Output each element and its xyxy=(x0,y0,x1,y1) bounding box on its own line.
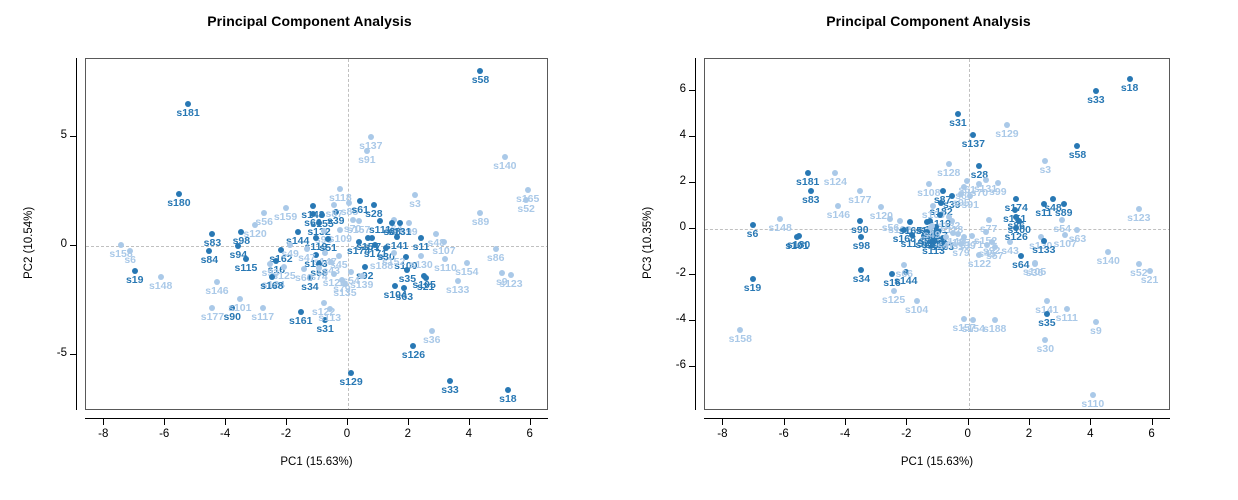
point-label: s101 xyxy=(785,241,808,252)
point-label: s47 xyxy=(937,241,955,252)
point-label: s66 xyxy=(896,269,914,280)
point-label: s30 xyxy=(1037,344,1055,355)
point-label: s34 xyxy=(301,282,319,293)
point-label: s168 xyxy=(893,234,916,245)
point-label: s47 xyxy=(298,253,316,264)
point-label: s83 xyxy=(802,195,820,206)
point-label: s174 xyxy=(1004,203,1027,214)
x-axis-tick xyxy=(530,419,531,425)
point-label: s86 xyxy=(1007,221,1025,232)
point-label: s140 xyxy=(1096,256,1119,267)
x-axis-tick xyxy=(722,419,723,425)
point-label: s36 xyxy=(423,335,441,346)
point-label: s88 xyxy=(383,227,401,238)
x-axis-tick-label: -4 xyxy=(205,428,245,440)
point-label: s35 xyxy=(1038,318,1056,329)
x-axis-tick xyxy=(1029,419,1030,425)
point-label: s33 xyxy=(441,385,459,396)
point-label: s33 xyxy=(1087,95,1105,106)
x-axis-tick-label: 0 xyxy=(948,428,988,440)
x-axis-tick xyxy=(164,419,165,425)
x-axis-tick xyxy=(103,419,104,425)
point-label: s180 xyxy=(167,198,190,209)
point-label: s146 xyxy=(205,286,228,297)
y-axis-tick xyxy=(70,136,76,137)
point-label: s158 xyxy=(729,334,752,345)
point-label: s56 xyxy=(255,217,273,228)
y-axis-tick-label: 4 xyxy=(644,129,686,141)
x-axis-title-right: PC1 (15.63%) xyxy=(892,456,982,468)
point-label: s110 xyxy=(434,263,457,274)
pca-panel-pc1-pc3: Principal Component Analysis s18s33s31s1… xyxy=(619,0,1238,500)
point-label: s58 xyxy=(1069,150,1087,161)
x-axis-tick-label: 6 xyxy=(1132,428,1172,440)
point-label: s120 xyxy=(243,229,266,240)
x-axis-tick-label: 0 xyxy=(327,428,367,440)
point-label: s52 xyxy=(517,204,535,215)
point-label: s31 xyxy=(316,324,334,335)
point-label: s174 xyxy=(347,246,370,257)
point-label: s177 xyxy=(201,312,224,323)
x-axis-title-left: PC1 (15.63%) xyxy=(272,456,362,468)
point-label: s58 xyxy=(472,75,490,86)
scatter-points-left: s58s181s137s91s140s180s118s3s52s85s159s1… xyxy=(86,59,547,409)
y-axis-tick xyxy=(70,354,76,355)
y-axis-tick xyxy=(689,274,695,275)
point-label: s87 xyxy=(934,195,952,206)
point-label: s63 xyxy=(396,292,414,303)
x-axis-tick-label: -4 xyxy=(825,428,865,440)
x-axis-tick xyxy=(347,419,348,425)
point-label: s87 xyxy=(325,209,343,220)
point-label: s159 xyxy=(274,212,297,223)
point-label: s48 xyxy=(428,238,446,249)
point-label: s137 xyxy=(359,141,382,152)
point-label: s115 xyxy=(235,263,258,274)
point-label: s131 xyxy=(974,184,997,195)
point-label: s129 xyxy=(339,377,362,388)
point-label: s129 xyxy=(995,129,1018,140)
y-axis-tick-label: -4 xyxy=(644,313,686,325)
point-label: s110 xyxy=(1081,399,1104,409)
y-axis-tick-label: 5 xyxy=(25,129,67,141)
y-axis-title-left: PC2 (10.54%) xyxy=(23,207,35,279)
x-axis-tick-label: -2 xyxy=(886,428,926,440)
y-axis-line xyxy=(76,58,77,410)
x-axis-tick-label: -6 xyxy=(764,428,804,440)
pca-figure: Principal Component Analysis s58s181s137… xyxy=(0,0,1238,500)
x-axis-tick-label: 4 xyxy=(1070,428,1110,440)
plot-area-right: s18s33s31s137s129s58s3s128s28s181s124s17… xyxy=(704,58,1170,410)
point-label: s83 xyxy=(204,238,222,249)
point-label: s105 xyxy=(1023,267,1046,278)
x-axis-line xyxy=(85,418,548,419)
point-label: s9 xyxy=(1090,326,1102,337)
point-label: s63 xyxy=(1069,234,1087,245)
point-label: s56 xyxy=(882,223,900,234)
point-label: s18 xyxy=(1121,83,1139,94)
point-label: s154 xyxy=(455,267,478,278)
y-axis-tick xyxy=(689,182,695,183)
point-label: s95 xyxy=(952,198,970,209)
point-label: s84 xyxy=(201,255,219,266)
x-axis-tick-label: 4 xyxy=(449,428,489,440)
chart-title-right: Principal Component Analysis xyxy=(619,13,1238,29)
y-axis-tick-label: 6 xyxy=(644,83,686,95)
y-axis-tick-label: -6 xyxy=(644,359,686,371)
point-label: s133 xyxy=(446,285,469,296)
y-axis-title-right: PC3 (10.35%) xyxy=(642,207,654,279)
point-label: s113 xyxy=(318,313,341,324)
x-axis-tick xyxy=(1090,419,1091,425)
point-label: s21 xyxy=(417,282,435,293)
x-axis-tick xyxy=(1152,419,1153,425)
point-label: s9 xyxy=(496,277,508,288)
point-label: s148 xyxy=(149,281,172,292)
x-axis-tick xyxy=(225,419,226,425)
point-label: s117 xyxy=(251,312,274,323)
point-label: s98 xyxy=(853,241,871,252)
point-label: s126 xyxy=(402,350,425,361)
point-label: s181 xyxy=(796,177,819,188)
point-label: s128 xyxy=(937,168,960,179)
y-axis-tick-label: -5 xyxy=(25,347,67,359)
point-label: s91 xyxy=(358,155,376,166)
point-label: s49 xyxy=(923,230,941,241)
x-axis-tick xyxy=(286,419,287,425)
x-axis-tick-label: -6 xyxy=(144,428,184,440)
point-label: s104 xyxy=(905,305,928,316)
point-label: s140 xyxy=(493,161,516,172)
point-label: s18 xyxy=(499,394,517,405)
point-label: s34 xyxy=(853,274,871,285)
point-label: s6 xyxy=(124,255,136,266)
point-label: s152 xyxy=(974,236,997,247)
point-label: s74 xyxy=(310,272,328,283)
y-axis-line xyxy=(695,58,696,410)
x-axis-tick xyxy=(469,419,470,425)
point-label: s161 xyxy=(289,316,312,327)
point-label: s89 xyxy=(472,217,490,228)
point-label: s123 xyxy=(1127,213,1150,224)
x-axis-tick-label: -8 xyxy=(83,428,123,440)
point-label: s146 xyxy=(827,210,850,221)
y-axis-tick xyxy=(689,136,695,137)
y-axis-tick xyxy=(689,366,695,367)
point-label: s137 xyxy=(962,139,985,150)
x-axis-tick-label: 2 xyxy=(388,428,428,440)
point-label: s61 xyxy=(351,205,369,216)
point-label: s181 xyxy=(176,108,199,119)
point-label: s111 xyxy=(1056,313,1078,324)
x-axis-line xyxy=(704,418,1170,419)
point-label: s148 xyxy=(768,223,791,234)
scatter-points-right: s18s33s31s137s129s58s3s128s28s181s124s17… xyxy=(705,59,1169,409)
point-label: s120 xyxy=(870,211,893,222)
x-axis-tick xyxy=(408,419,409,425)
point-label: s122 xyxy=(968,259,991,270)
x-axis-tick xyxy=(845,419,846,425)
point-label: s19 xyxy=(126,275,144,286)
y-axis-tick xyxy=(689,320,695,321)
point-label: s31 xyxy=(949,118,967,129)
point-label: s188 xyxy=(983,324,1006,335)
point-label: s3 xyxy=(409,199,421,210)
x-axis-tick-label: -2 xyxy=(266,428,306,440)
point-label: s21 xyxy=(1141,275,1159,286)
point-label: s3 xyxy=(1039,165,1051,176)
plot-area-left: s58s181s137s91s140s180s118s3s52s85s159s1… xyxy=(85,58,548,410)
point-label: s125 xyxy=(882,295,905,306)
point-label: s124 xyxy=(824,177,847,188)
x-axis-tick xyxy=(906,419,907,425)
y-axis-tick xyxy=(689,90,695,91)
point-label: s101 xyxy=(228,303,251,314)
point-label: s143 xyxy=(301,210,324,221)
y-axis-tick xyxy=(689,228,695,229)
point-label: s139 xyxy=(350,280,373,291)
x-axis-tick-label: 6 xyxy=(510,428,550,440)
point-label: s86 xyxy=(487,253,505,264)
point-label: s6 xyxy=(747,229,759,240)
point-label: s157 xyxy=(347,225,370,236)
point-label: s165 xyxy=(516,194,539,205)
x-axis-tick-label: -8 xyxy=(702,428,742,440)
x-axis-tick xyxy=(968,419,969,425)
y-axis-tick xyxy=(70,245,76,246)
pca-panel-pc1-pc2: Principal Component Analysis s58s181s137… xyxy=(0,0,619,500)
point-label: s154 xyxy=(962,324,985,335)
point-label: s133 xyxy=(1032,245,1055,256)
point-label: s49 xyxy=(281,249,299,260)
chart-title-left: Principal Component Analysis xyxy=(0,13,619,29)
point-label: s43 xyxy=(1001,246,1019,257)
x-axis-tick-label: 2 xyxy=(1009,428,1049,440)
x-axis-tick xyxy=(784,419,785,425)
point-label: s168 xyxy=(260,281,283,292)
point-label: s177 xyxy=(848,195,871,206)
point-label: s19 xyxy=(744,283,762,294)
y-axis-tick-label: 2 xyxy=(644,175,686,187)
point-label: s139 xyxy=(952,241,975,252)
point-label: s130 xyxy=(409,260,432,271)
